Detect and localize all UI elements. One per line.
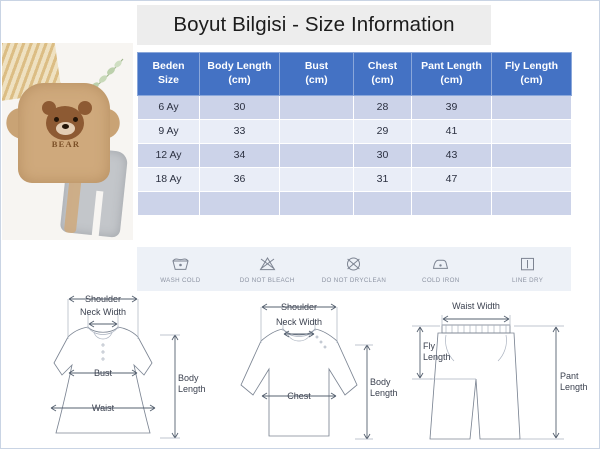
care-label: DO NOT DRYCLEAN [322, 277, 387, 284]
bear-nose [62, 124, 69, 129]
cell-size: 6 Ay [138, 95, 200, 119]
col-header-bust: Bust (cm) [280, 53, 354, 96]
no-bleach-triangle-icon [258, 255, 277, 274]
col-header-fly-length: Fly Length (cm) [492, 53, 572, 96]
wash-tub-icon [171, 255, 190, 274]
table-row [138, 191, 572, 215]
cell-chest: 30 [354, 143, 412, 167]
dress-label-shoulder: Shoulder [85, 294, 121, 304]
sweater-label-neck-width: Neck Width [276, 317, 322, 327]
pants-label-fly-length-line1: Fly [423, 341, 435, 351]
cell-body-length: 36 [200, 167, 280, 191]
sweater-label-body-length-line1: Body [370, 377, 391, 387]
cell-chest: 31 [354, 167, 412, 191]
col-header-line2: (cm) [228, 74, 250, 86]
dress-measurement-diagram: Shoulder Neck Width Bust Waist [10, 293, 210, 447]
cell-body-length: 33 [200, 119, 280, 143]
cell-bust [280, 119, 354, 143]
col-header-line2: (cm) [371, 74, 393, 86]
sweater-bear-text: BEAR [40, 139, 92, 149]
sweater-label-chest: Chest [287, 391, 311, 401]
cell-size [138, 191, 200, 215]
care-label: WASH COLD [160, 277, 200, 284]
table-row: 18 Ay 36 31 47 [138, 167, 572, 191]
pants-label-fly-length-line2: Length [423, 352, 451, 362]
col-header-line2: (cm) [305, 74, 327, 86]
care-item-cold-iron: COLD IRON [399, 255, 483, 284]
col-header-body-length: Body Length (cm) [200, 53, 280, 96]
sweater-label-body-length-line2: Length [370, 388, 398, 398]
care-item-do-not-dryclean: DO NOT DRYCLEAN [312, 255, 396, 284]
bear-eye-left [54, 117, 59, 122]
col-header-line2: (cm) [520, 74, 542, 86]
cell-bust [280, 95, 354, 119]
cell-fly-length [492, 119, 572, 143]
cell-fly-length [492, 191, 572, 215]
sweater-label-shoulder: Shoulder [281, 302, 317, 312]
dress-label-body-length-line1: Body [178, 373, 199, 383]
bear-eye-right [73, 117, 78, 122]
table-row: 12 Ay 34 30 43 [138, 143, 572, 167]
cell-chest: 29 [354, 119, 412, 143]
table-row: 9 Ay 33 29 41 [138, 119, 572, 143]
iron-icon [431, 255, 450, 274]
pants-label-pant-length-line1: Pant [560, 371, 579, 381]
cell-body-length: 34 [200, 143, 280, 167]
col-header-line1: Chest [368, 60, 397, 72]
col-header-line2: Size [158, 74, 179, 86]
col-header-line1: Bust [305, 60, 328, 72]
cell-bust [280, 191, 354, 215]
size-table: Beden Size Body Length (cm) Bust (cm) Ch… [137, 52, 572, 216]
dress-label-body-length-line2: Length [178, 384, 206, 394]
col-header-beden-size: Beden Size [138, 53, 200, 96]
care-item-wash-cold: WASH COLD [138, 255, 222, 284]
cell-fly-length [492, 143, 572, 167]
line-dry-square-icon [518, 255, 537, 274]
page-title-band: Boyut Bilgisi - Size Information [137, 5, 491, 45]
cell-fly-length [492, 167, 572, 191]
dress-label-bust: Bust [94, 368, 113, 378]
cell-pant-length: 39 [412, 95, 492, 119]
col-header-line1: Pant Length [421, 60, 482, 72]
cell-fly-length [492, 95, 572, 119]
cell-size: 12 Ay [138, 143, 200, 167]
sweater-measurement-diagram: Shoulder Neck Width Chest Body Length [217, 293, 407, 447]
care-item-line-dry: LINE DRY [486, 255, 570, 284]
col-header-chest: Chest (cm) [354, 53, 412, 96]
col-header-line1: Beden [152, 60, 184, 72]
care-item-do-not-bleach: DO NOT BLEACH [225, 255, 309, 284]
cell-body-length: 30 [200, 95, 280, 119]
cell-size: 9 Ay [138, 119, 200, 143]
pants-label-pant-length-line2: Length [560, 382, 588, 392]
care-label: COLD IRON [422, 277, 460, 284]
table-header-row: Beden Size Body Length (cm) Bust (cm) Ch… [138, 53, 572, 96]
cell-pant-length [412, 191, 492, 215]
pants-label-waist-width: Waist Width [452, 301, 500, 311]
care-instructions-panel: WASH COLD DO NOT BLEACH DO NOT DRYCL [137, 247, 571, 291]
cell-bust [280, 143, 354, 167]
cell-pant-length: 47 [412, 167, 492, 191]
cell-chest [354, 191, 412, 215]
cell-pant-length: 41 [412, 119, 492, 143]
col-header-line1: Fly Length [505, 60, 558, 72]
col-header-line1: Body Length [207, 60, 271, 72]
dress-label-waist: Waist [92, 403, 115, 413]
cell-body-length [200, 191, 280, 215]
pants-measurement-diagram: Waist Width Fly Length [404, 293, 600, 447]
page-title: Boyut Bilgisi - Size Information [173, 13, 454, 37]
product-photo: BEAR [2, 43, 133, 240]
measurement-diagrams: Shoulder Neck Width Bust Waist [2, 293, 598, 445]
no-dryclean-circle-icon [344, 255, 363, 274]
table-row: 6 Ay 30 28 39 [138, 95, 572, 119]
size-chart-page: Boyut Bilgisi - Size Information BEAR [0, 0, 600, 449]
cell-size: 18 Ay [138, 167, 200, 191]
col-header-pant-length: Pant Length (cm) [412, 53, 492, 96]
cell-chest: 28 [354, 95, 412, 119]
col-header-line2: (cm) [440, 74, 462, 86]
cell-pant-length: 43 [412, 143, 492, 167]
dress-label-neck-width: Neck Width [80, 307, 126, 317]
care-label: LINE DRY [512, 277, 543, 284]
care-label: DO NOT BLEACH [240, 277, 295, 284]
cell-bust [280, 167, 354, 191]
